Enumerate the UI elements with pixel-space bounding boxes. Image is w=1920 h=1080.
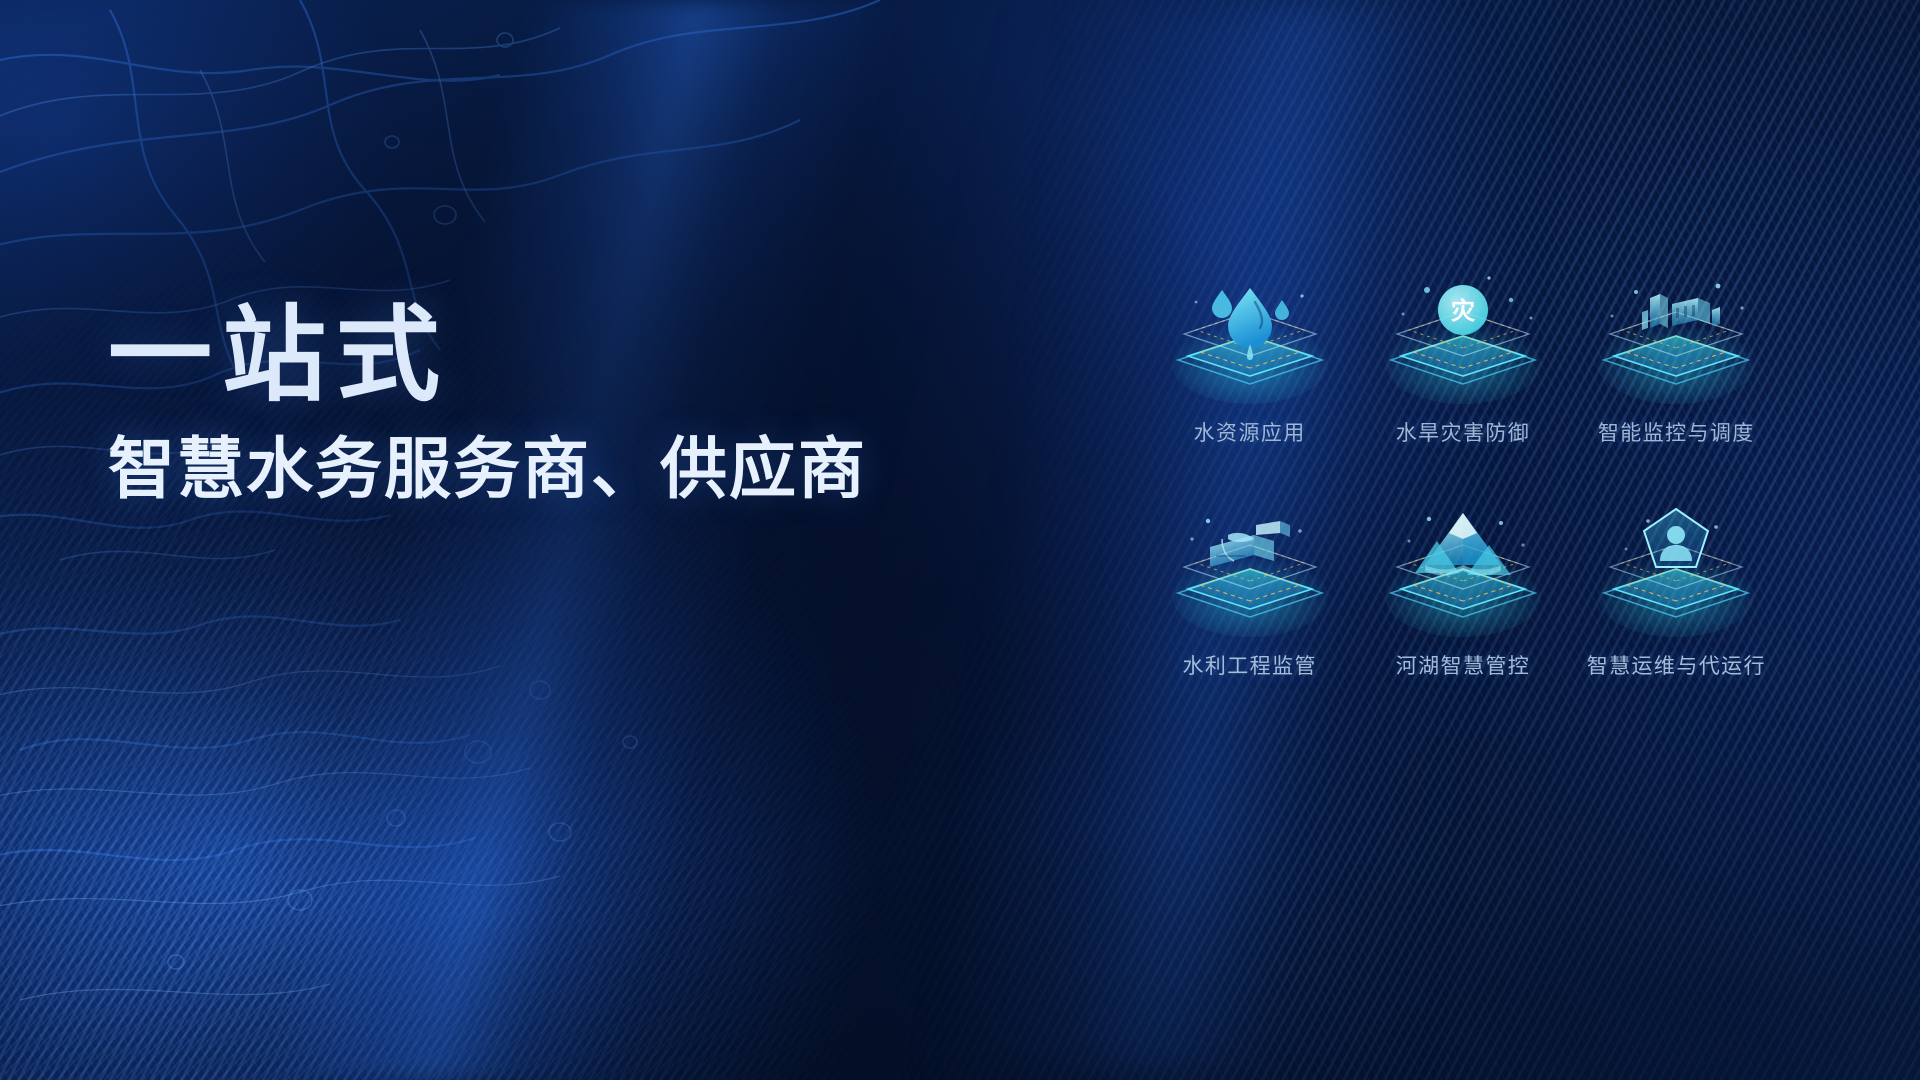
hero-text-block: 一站式 智慧水务服务商、供应商 xyxy=(108,300,867,509)
grid-item-label: 水利工程监管 xyxy=(1182,650,1316,680)
grid-item-disaster-defense[interactable]: 灾 水旱灾害防御 xyxy=(1356,272,1569,447)
page-title: 一站式 xyxy=(108,300,867,412)
grid-item-label: 智能监控与调度 xyxy=(1598,417,1755,447)
disaster-badge-text: 灾 xyxy=(1451,297,1475,325)
monitoring-buildings-icon xyxy=(1576,272,1776,407)
page-subtitle: 智慧水务服务商、供应商 xyxy=(108,430,867,509)
disaster-sphere-icon: 灾 xyxy=(1363,272,1563,407)
grid-item-hydro-engineering[interactable]: 水利工程监管 xyxy=(1143,505,1356,680)
grid-item-label: 智慧运维与代运行 xyxy=(1587,650,1766,680)
grid-item-river-lake-control[interactable]: 河湖智慧管控 xyxy=(1356,505,1569,680)
hydro-engineering-icon xyxy=(1150,505,1350,640)
slide-canvas: 一站式 智慧水务服务商、供应商 xyxy=(0,0,1920,1080)
grid-item-smart-operations[interactable]: 智慧运维与代运行 xyxy=(1570,505,1783,680)
shield-operator-icon xyxy=(1576,505,1776,640)
grid-item-smart-monitoring[interactable]: 智能监控与调度 xyxy=(1570,272,1783,447)
grid-item-label: 水旱灾害防御 xyxy=(1396,417,1530,447)
grid-item-label: 水资源应用 xyxy=(1194,417,1306,447)
grid-item-water-resources[interactable]: 水资源应用 xyxy=(1143,272,1356,447)
river-lake-mountain-icon xyxy=(1363,505,1563,640)
service-icon-grid: 水资源应用 xyxy=(1143,272,1783,680)
grid-item-label: 河湖智慧管控 xyxy=(1396,650,1530,680)
water-drop-platform-icon xyxy=(1150,272,1350,407)
